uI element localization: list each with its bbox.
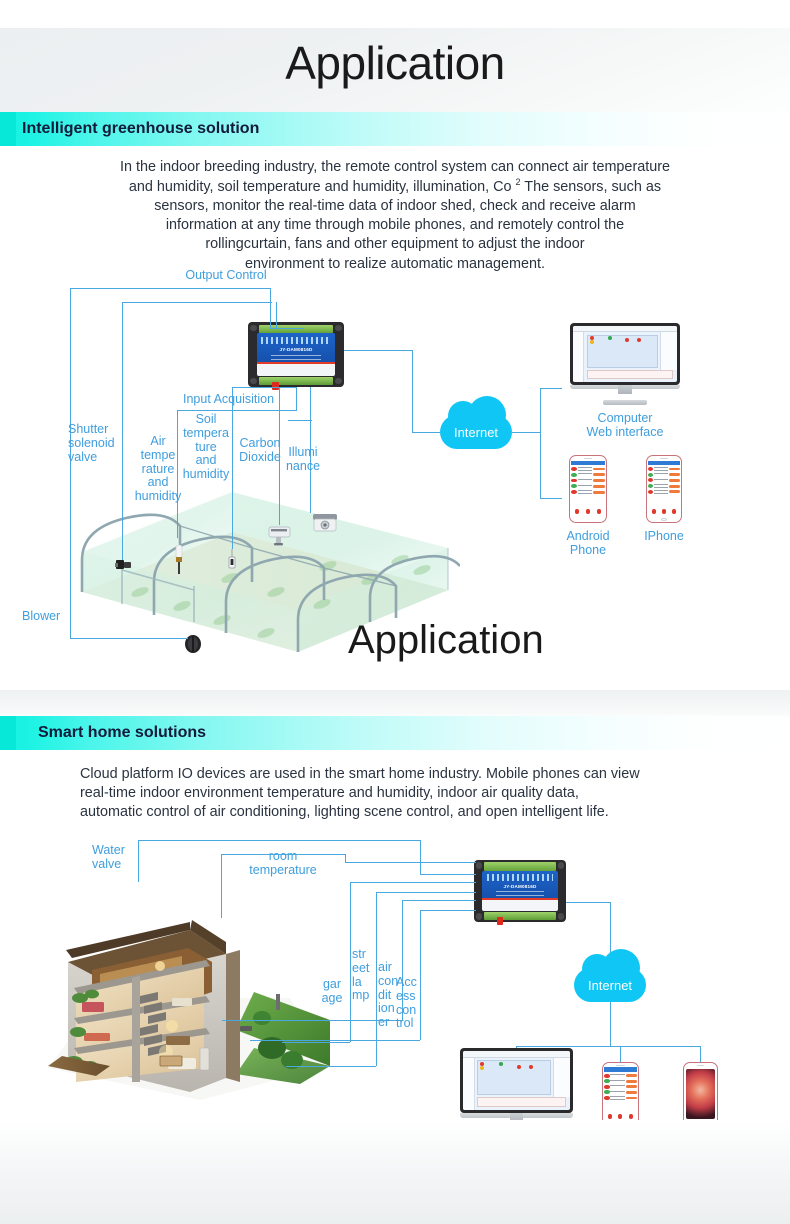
greenhouse-paragraph: In the indoor breeding industry, the rem… (30, 158, 760, 274)
phone-action-buttons (649, 508, 679, 515)
label-line: gar (315, 978, 349, 992)
phone-app-header (648, 461, 679, 466)
line-room-temp-right (345, 854, 346, 862)
label-blower: Blower (22, 610, 72, 624)
phone-action-buttons (572, 508, 604, 515)
phone-speaker (584, 458, 593, 459)
phone-frame (602, 1062, 639, 1128)
label-line: Carbon (235, 437, 285, 451)
controller-board: JY-DAM0816D (257, 333, 336, 376)
controller-screw (335, 325, 342, 332)
line-air-conditioner-to-house (222, 1020, 402, 1021)
paragraph-line: rollingcurtain, fans and other equipment… (30, 235, 760, 254)
label-line: Computer (562, 412, 688, 426)
line-access-control-v (420, 910, 421, 1040)
paragraph-line: Cloud platform IO devices are used in th… (80, 765, 760, 784)
controller-bottom-terminal-block (484, 912, 556, 920)
section-accent-cap (0, 112, 16, 146)
label-line: trol (396, 1017, 422, 1031)
phone-channel-list (648, 467, 679, 508)
status-dot (608, 336, 612, 340)
screen-right-panel (660, 332, 677, 370)
controller-screw (558, 862, 564, 868)
label-line: valve (68, 451, 130, 465)
smart-home-house-illustration (40, 870, 340, 1110)
screen-sidebar (573, 332, 584, 382)
status-dot (480, 1062, 484, 1066)
phone-speaker (697, 1065, 705, 1066)
phone-channel-list (571, 467, 604, 508)
controller-led-strip (261, 337, 330, 344)
list-item (571, 472, 604, 477)
label-line: and (177, 454, 235, 468)
paragraph-line: automatic control of air conditioning, l… (80, 803, 760, 822)
list-item (571, 478, 604, 483)
label-line: Acc (396, 976, 422, 990)
label-line: ess (396, 990, 422, 1004)
line-room-temp-left (221, 854, 222, 918)
line-shutter-top (122, 302, 272, 303)
phone-action-buttons (605, 1114, 636, 1120)
label-line: humidity (132, 490, 184, 504)
label-line: Android (553, 530, 623, 544)
controller-screw (558, 913, 564, 919)
label-input-acquisition: Input Acquisition (183, 393, 303, 407)
label-illuminance: Illumi nance (281, 446, 325, 474)
section-two-background (0, 690, 790, 718)
list-item (571, 467, 604, 472)
phone-frame (683, 1062, 718, 1128)
label-access-control: Acc ess con trol (396, 976, 422, 1031)
blower-fan-icon (183, 634, 203, 654)
line-to-phones (540, 498, 562, 499)
line-room-temp-top (221, 854, 345, 855)
phone-speaker (616, 1065, 624, 1066)
line-water-valve-into-ctrl (420, 874, 476, 875)
application-page: Application Intelligent greenhouse solut… (0, 0, 790, 1224)
io-controller-device-smart-home: JY-DAM0816D (474, 860, 566, 922)
label-computer-web-interface: Computer Web interface (562, 412, 688, 440)
computer-monitor-greenhouse (570, 323, 680, 405)
screen-main-field (477, 1060, 551, 1094)
controller-screw (476, 913, 482, 919)
label-water-valve: Water valve (92, 844, 140, 872)
list-item (648, 478, 679, 483)
line-street-lamp-to-house (286, 1066, 376, 1067)
label-line: humidity (177, 468, 235, 482)
house-svg (40, 870, 340, 1110)
label-line: Phone (553, 544, 623, 558)
status-dot (590, 340, 594, 344)
label-line: solenoid (68, 437, 130, 451)
controller-model-label: JY-DAM0816D (257, 347, 336, 352)
cloud-label: Internet (440, 426, 512, 439)
line-output-control-bus (70, 288, 270, 289)
section-title-smart-home: Smart home solutions (38, 716, 206, 750)
smart-home-paragraph: Cloud platform IO devices are used in th… (80, 765, 760, 822)
phone-frame (646, 455, 682, 523)
controller-board: JY-DAM0816D (482, 871, 557, 912)
list-item (604, 1073, 636, 1078)
monitor-screen (463, 1051, 570, 1110)
line-shutter-to-controller (276, 302, 277, 328)
label-line: mp (352, 989, 376, 1003)
label-street-lamp: str eet la mp (352, 948, 376, 1003)
screen-main-field (587, 335, 659, 368)
internet-cloud-greenhouse: Internet (440, 415, 512, 449)
line-ctrl-to-cloud-h (566, 902, 610, 903)
label-line: Web interface (562, 426, 688, 440)
controller-bottom-terminal-block (259, 377, 334, 385)
screen-log-field (587, 370, 673, 379)
label-iphone: IPhone (626, 530, 702, 544)
paragraph-line: sensors, monitor the real-time data of i… (30, 197, 760, 216)
section-title-greenhouse: Intelligent greenhouse solution (22, 112, 259, 146)
status-dot (590, 336, 594, 340)
label-line: valve (92, 858, 140, 872)
page-bottom-gradient (0, 1120, 790, 1224)
list-item (604, 1096, 636, 1101)
io-controller-device-greenhouse: JY-DAM0816D (248, 322, 344, 387)
android-phone-smart-home (602, 1062, 639, 1128)
line-cloud-down (610, 1002, 611, 1046)
controller-led-strip (487, 874, 553, 881)
screen-right-panel (553, 1058, 570, 1098)
phone-speaker (660, 458, 668, 459)
paragraph-line: In the indoor breeding industry, the rem… (30, 158, 760, 177)
line-input-acq-up (296, 387, 297, 410)
controller-screw (250, 325, 257, 332)
label-line: ture (177, 441, 235, 455)
label-line: Soil (177, 413, 235, 427)
list-item (571, 490, 604, 495)
air-temp-humidity-sensor-icon (174, 545, 184, 575)
line-access-control-h (420, 910, 476, 911)
controller-white-band (257, 364, 336, 376)
line-water-valve-v (138, 840, 139, 882)
controller-power-plug (497, 917, 503, 925)
label-carbon-dioxide: Carbon Dioxide (235, 437, 285, 465)
list-item (648, 484, 679, 489)
line-into-cloud (412, 432, 440, 433)
line-room-temp-into-ctrl (345, 862, 476, 863)
illuminance-sensor-icon (312, 513, 338, 535)
screen-log-field (477, 1097, 566, 1106)
label-line: air (378, 961, 402, 975)
list-item (604, 1084, 636, 1089)
status-dot (517, 1065, 521, 1069)
list-item (648, 467, 679, 472)
paragraph-line: information at any time through mobile p… (30, 216, 760, 235)
phone-channel-list (604, 1073, 636, 1113)
android-phone-greenhouse (569, 455, 607, 523)
label-line: Dioxide (235, 451, 285, 465)
iphone-greenhouse (646, 455, 682, 523)
paragraph-line: and humidity, soil temperature and humid… (30, 177, 760, 197)
label-line: eet (352, 962, 376, 976)
line-endpoint-bus-smart-home (516, 1046, 700, 1047)
label-android-phone: Android Phone (553, 530, 623, 558)
list-item (648, 472, 679, 477)
controller-screw (476, 862, 482, 868)
phone-wallpaper (686, 1069, 715, 1120)
line-access-control-to-house (250, 1040, 420, 1041)
carbon-dioxide-sensor-icon (268, 525, 292, 549)
line-to-computer (540, 388, 562, 389)
watermark-application: Application (348, 620, 544, 660)
line-controller-to-internet-h (344, 350, 412, 351)
section-header-greenhouse: Intelligent greenhouse solution (0, 112, 790, 146)
shutter-valve-icon (115, 558, 133, 572)
line-water-valve-h (138, 840, 420, 841)
line-water-valve-down (420, 840, 421, 874)
line-blower-horizontal (70, 638, 188, 639)
label-line: tempera (177, 427, 235, 441)
label-line: Water (92, 844, 140, 858)
label-line: nance (281, 460, 325, 474)
iphone-smart-home (683, 1062, 718, 1128)
label-line: age (315, 992, 349, 1006)
controller-model-label: JY-DAM0816D (482, 884, 557, 889)
paragraph-line: real-time indoor environment temperature… (80, 784, 760, 803)
monitor-screen (573, 326, 677, 382)
label-shutter-solenoid-valve: Shutter solenoid valve (68, 423, 130, 464)
line-soil-top (232, 387, 296, 388)
monitor-foot (603, 400, 647, 405)
phone-home-button (661, 518, 666, 521)
list-item (571, 484, 604, 489)
line-output-to-controller (270, 288, 271, 328)
line-controller-to-internet-v (412, 350, 413, 432)
list-item (648, 489, 679, 494)
line-endpoint-bus (540, 388, 541, 498)
controller-white-band (482, 900, 557, 911)
label-line: Shutter (68, 423, 130, 437)
label-output-control: Output Control (176, 269, 276, 283)
controller-screw (250, 378, 257, 385)
line-street-lamp-h (376, 892, 476, 893)
monitor-bezel (460, 1048, 573, 1113)
screen-sidebar (463, 1058, 475, 1111)
line-air-conditioner-h (402, 900, 476, 901)
label-line: room (228, 850, 338, 864)
list-item (604, 1079, 636, 1084)
monitor-bezel (570, 323, 680, 385)
line-garage-h (350, 882, 476, 883)
cloud-label: Internet (574, 979, 646, 992)
phone-app-header (604, 1067, 636, 1071)
greenhouse-diagram: JY-DAM0816D Output Control Shutter solen… (0, 260, 790, 685)
section-header-smart-home: Smart home solutions (0, 716, 790, 750)
line-output-into-controller (270, 328, 304, 329)
soil-sensor-icon (228, 549, 236, 571)
label-line: con (396, 1004, 422, 1018)
page-title: Application (0, 40, 790, 86)
section-accent-cap (0, 716, 16, 750)
line-garage-v (350, 882, 351, 1042)
line-illuminance-jog (288, 420, 312, 421)
label-line: Illumi (281, 446, 325, 460)
line-cloud-out (512, 432, 540, 433)
label-garage: gar age (315, 978, 349, 1006)
phone-frame (569, 455, 607, 523)
list-item (604, 1090, 636, 1095)
label-soil-temperature-humidity: Soil tempera ture and humidity (177, 413, 235, 482)
internet-cloud-smart-home: Internet (574, 968, 646, 1002)
label-line: temperature (228, 864, 338, 878)
monitor-neck (618, 385, 631, 394)
phone-app-header (571, 461, 604, 466)
label-line: la (352, 976, 376, 990)
line-garage-to-house (282, 1042, 350, 1043)
controller-top-terminal-block (484, 862, 556, 870)
label-line: str (352, 948, 376, 962)
